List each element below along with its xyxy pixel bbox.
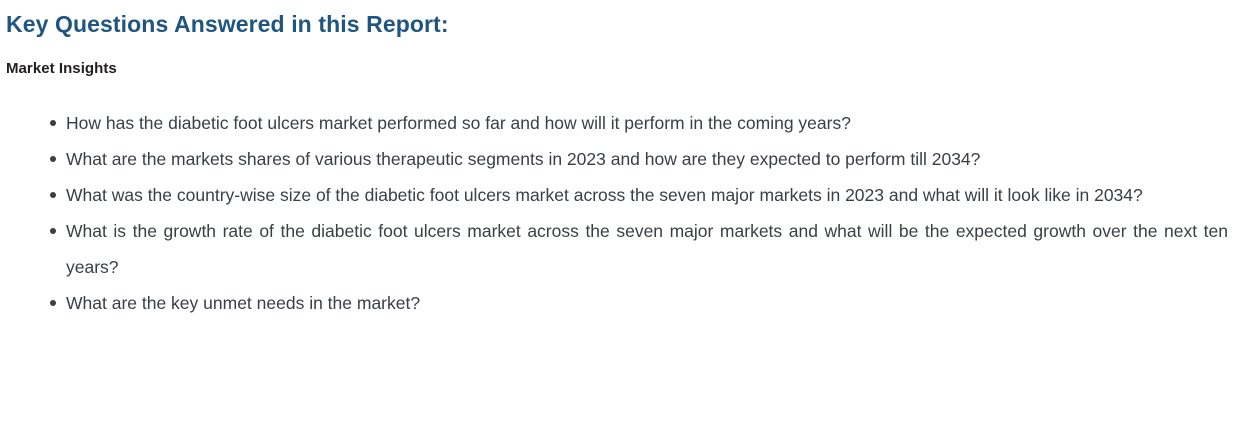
bullet-point-icon bbox=[50, 228, 56, 234]
bullet-point-icon bbox=[50, 156, 56, 162]
bullet-point-icon bbox=[50, 192, 56, 198]
list-item-label: What are the key unmet needs in the mark… bbox=[66, 285, 1228, 321]
list-item: What was the country-wise size of the di… bbox=[6, 177, 1232, 213]
page-title: Key Questions Answered in this Report: bbox=[6, 0, 1232, 38]
list-item-label: What are the markets shares of various t… bbox=[66, 141, 1228, 177]
list-item: What are the markets shares of various t… bbox=[6, 141, 1232, 177]
list-item-label: What was the country-wise size of the di… bbox=[66, 177, 1228, 213]
report-key-questions-section: Key Questions Answered in this Report: M… bbox=[0, 0, 1236, 424]
bullet-point-icon bbox=[50, 300, 56, 306]
key-questions-list: How has the diabetic foot ulcers market … bbox=[6, 79, 1232, 321]
list-item: What is the growth rate of the diabetic … bbox=[6, 213, 1232, 285]
bullet-point-icon bbox=[50, 120, 56, 126]
section-subtitle-market-insights: Market Insights bbox=[6, 38, 1232, 79]
list-item: How has the diabetic foot ulcers market … bbox=[6, 105, 1232, 141]
list-item-label: How has the diabetic foot ulcers market … bbox=[66, 105, 1228, 141]
list-item: What are the key unmet needs in the mark… bbox=[6, 285, 1232, 321]
list-item-label: What is the growth rate of the diabetic … bbox=[66, 213, 1228, 285]
